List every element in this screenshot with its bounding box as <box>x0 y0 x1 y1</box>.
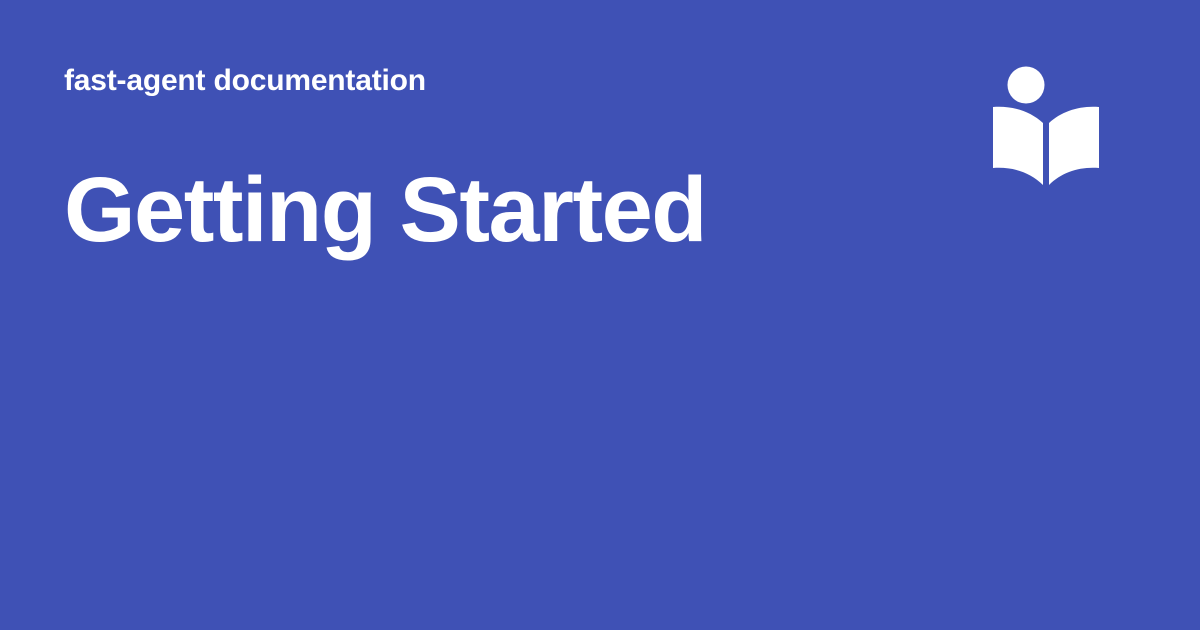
open-book-reader-icon <box>988 60 1104 190</box>
card-text-block: fast-agent documentation Getting Started <box>64 60 964 102</box>
social-preview-card: fast-agent documentation Getting Started <box>0 0 1200 630</box>
page-title: Getting Started <box>64 162 706 259</box>
site-name: fast-agent documentation <box>64 60 964 102</box>
